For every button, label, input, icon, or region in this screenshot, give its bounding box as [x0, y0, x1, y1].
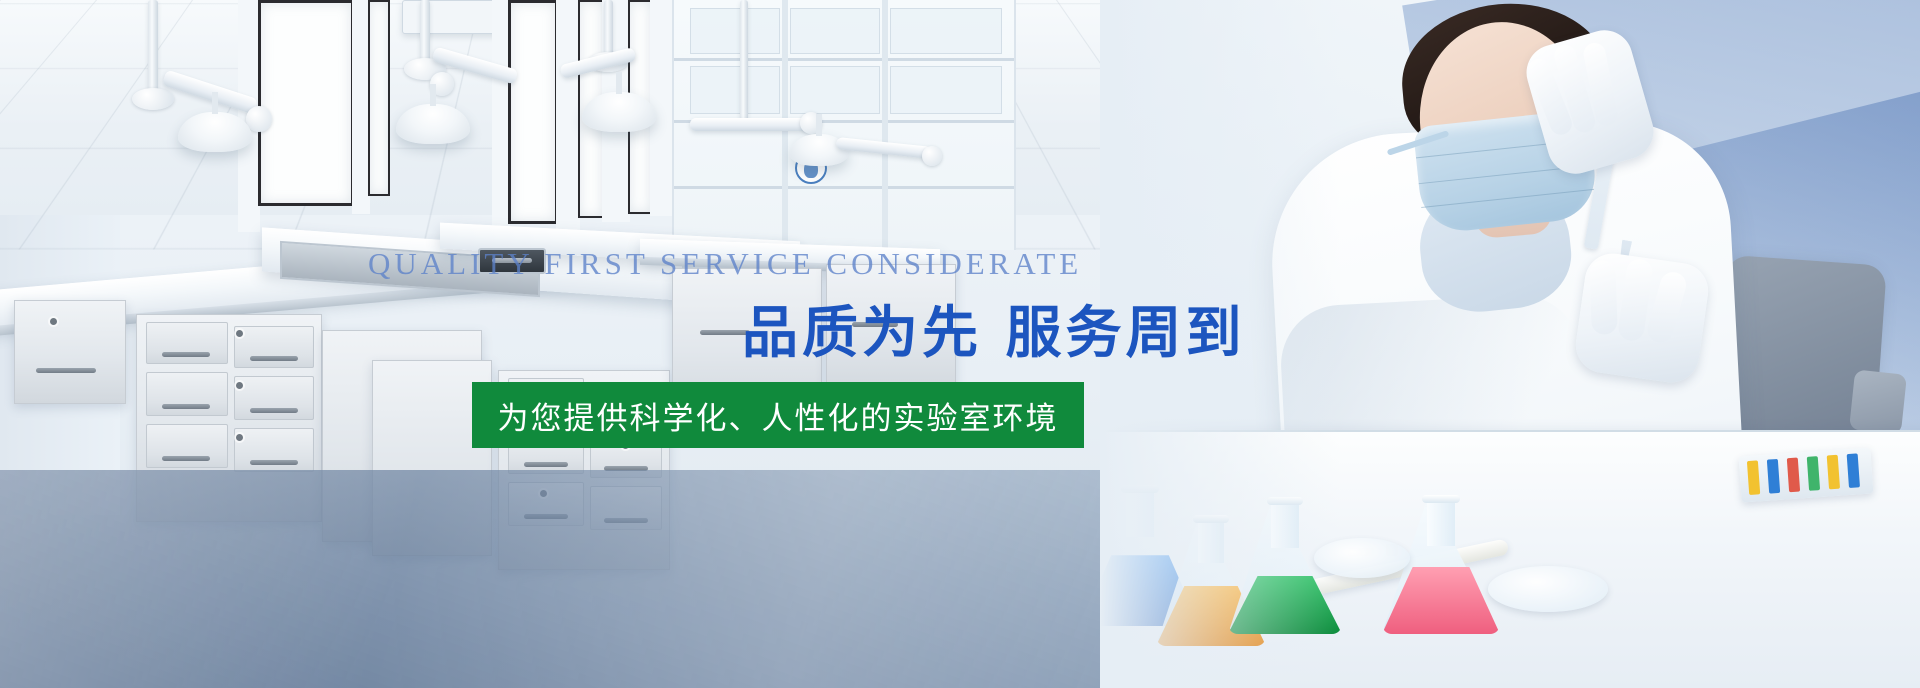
hero-banner: QUALITY FIRST SERVICE CONSIDERATE 品质为先 服…	[0, 0, 1920, 688]
banner-copy: QUALITY FIRST SERVICE CONSIDERATE 品质为先 服…	[0, 0, 1920, 688]
english-tagline: QUALITY FIRST SERVICE CONSIDERATE	[368, 246, 1028, 282]
headline-chinese: 品质为先 服务周到	[742, 288, 1246, 369]
subtitle-chinese: 为您提供科学化、人性化的实验室环境	[498, 393, 1059, 438]
subtitle-green-band: 为您提供科学化、人性化的实验室环境	[472, 382, 1084, 448]
